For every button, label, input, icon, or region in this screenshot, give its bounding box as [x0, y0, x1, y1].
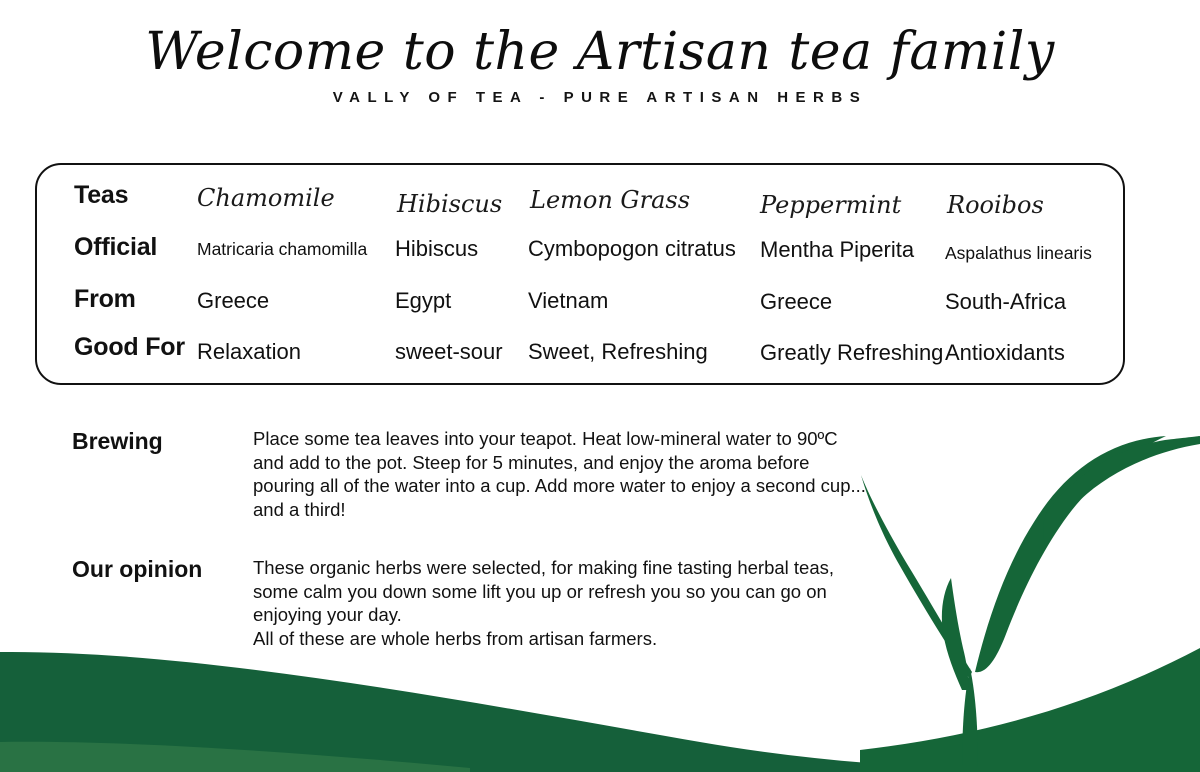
row-label-from: From — [74, 285, 136, 314]
green-wave-highlight-stripe — [0, 742, 470, 772]
tea-name-chamomile: Chamomile — [197, 184, 335, 212]
page-title: Welcome to the Artisan tea family — [0, 22, 1200, 83]
tea-name-peppermint: Peppermint — [760, 191, 901, 219]
tea-goodfor-peppermint: Greatly Refreshing — [760, 340, 943, 366]
brewing-text: Place some tea leaves into your teapot. … — [253, 427, 873, 521]
sprout-leaf-lobe-shape — [1043, 436, 1200, 548]
header: Welcome to the Artisan tea family VALLY … — [0, 22, 1200, 106]
our-opinion-text: These organic herbs were selected, for m… — [253, 556, 853, 650]
tea-official-peppermint: Mentha Piperita — [760, 237, 914, 263]
tea-name-hibiscus: Hibiscus — [397, 190, 502, 218]
sprout-left-branch-shape — [861, 475, 972, 678]
row-label-teas: Teas — [74, 181, 128, 210]
page-subtitle: VALLY OF TEA - PURE ARTISAN HERBS — [0, 89, 1200, 106]
ground-strip-shape — [860, 648, 1200, 772]
tea-from-lemon-grass: Vietnam — [528, 288, 608, 314]
green-wave-dark-shape — [0, 652, 1200, 772]
table-grid: Teas Official From Good For Chamomile Ma… — [37, 165, 1123, 383]
sprout-main-leaf-shape — [975, 436, 1166, 672]
tea-name-lemon-grass: Lemon Grass — [530, 186, 690, 214]
our-opinion-label: Our opinion — [72, 556, 202, 583]
tea-goodfor-hibiscus: sweet-sour — [395, 339, 503, 365]
tea-comparison-table: Teas Official From Good For Chamomile Ma… — [35, 163, 1125, 385]
tea-info-card: Welcome to the Artisan tea family VALLY … — [0, 0, 1200, 772]
row-label-official: Official — [74, 233, 157, 262]
tea-official-rooibos: Aspalathus linearis — [945, 243, 1092, 264]
tea-name-rooibos: Rooibos — [947, 191, 1044, 219]
tea-from-hibiscus: Egypt — [395, 288, 451, 314]
tea-from-chamomile: Greece — [197, 288, 269, 314]
tea-official-lemon-grass: Cymbopogon citratus — [528, 236, 736, 262]
tea-goodfor-rooibos: Antioxidants — [945, 340, 1065, 366]
decorative-artwork — [0, 0, 1200, 772]
tea-from-peppermint: Greece — [760, 289, 832, 315]
row-label-good-for: Good For — [74, 333, 185, 362]
brewing-label: Brewing — [72, 428, 163, 455]
sprout-stem-shape — [962, 668, 978, 772]
green-wave-light-shape — [0, 681, 1200, 772]
sprout-left-leaflet-shape — [942, 578, 968, 690]
tea-from-rooibos: South-Africa — [945, 289, 1066, 315]
tea-official-chamomile: Matricaria chamomilla — [197, 239, 367, 260]
tea-goodfor-lemon-grass: Sweet, Refreshing — [528, 339, 708, 365]
tea-goodfor-chamomile: Relaxation — [197, 339, 301, 365]
tea-official-hibiscus: Hibiscus — [395, 236, 478, 262]
